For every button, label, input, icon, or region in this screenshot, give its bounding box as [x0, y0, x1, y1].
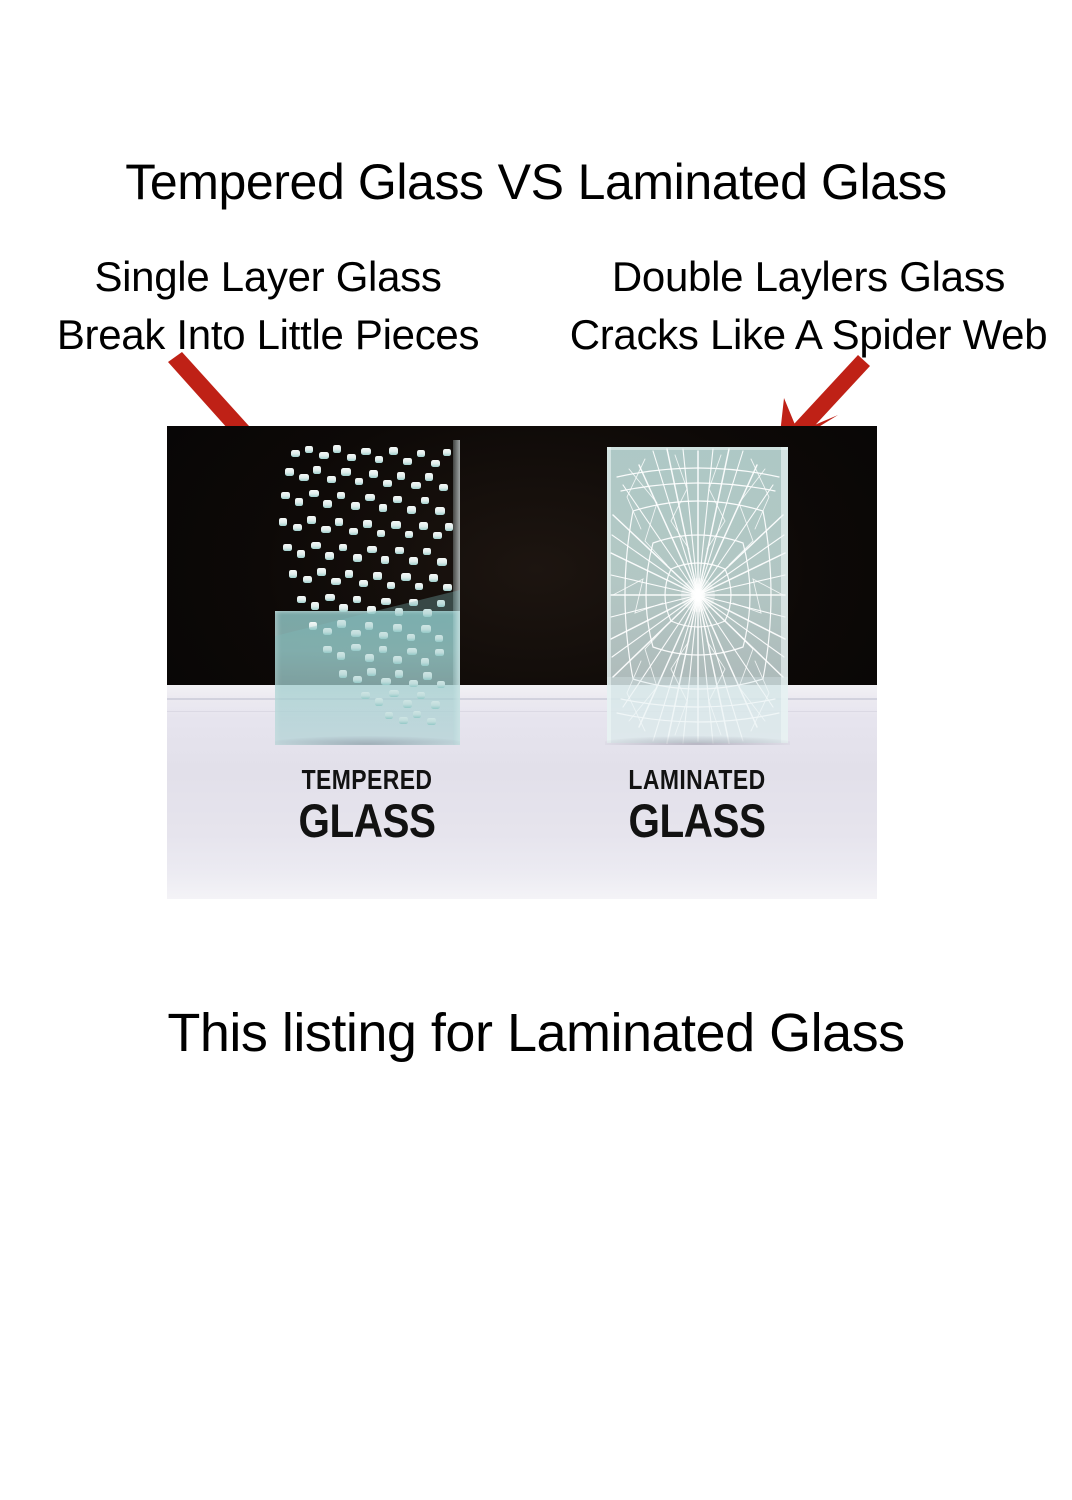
subtitle-column-tempered: Single Layer Glass Break Into Little Pie… — [8, 248, 528, 364]
photo-caption-laminated-top: LAMINATED — [582, 766, 812, 794]
laminated-pane-shadow — [605, 736, 790, 745]
photo-caption-tempered: TEMPERED GLASS — [227, 766, 507, 844]
page-title: Tempered GlassVSLaminated Glass — [0, 152, 1072, 212]
subtitle-laminated-line2: Cracks Like A Spider Web — [545, 306, 1072, 364]
headline-left-term: Tempered Glass — [125, 154, 483, 210]
tempered-glass-pane — [275, 440, 460, 745]
listing-note: This listing for Laminated Glass — [0, 1000, 1072, 1066]
subtitle-tempered-line2: Break Into Little Pieces — [8, 306, 528, 364]
photo-caption-tempered-bottom: GLASS — [247, 797, 488, 844]
subtitle-laminated-line1: Double Laylers Glass — [545, 248, 1072, 306]
headline-vs: VS — [498, 154, 564, 210]
subtitle-tempered-line1: Single Layer Glass — [8, 248, 528, 306]
comparison-photo: TEMPERED GLASS LAMINATED GLASS — [167, 426, 877, 899]
subtitle-row: Single Layer Glass Break Into Little Pie… — [0, 248, 1072, 368]
photo-caption-laminated-bottom: GLASS — [577, 797, 818, 844]
photo-caption-laminated: LAMINATED GLASS — [557, 766, 837, 844]
photo-caption-tempered-top: TEMPERED — [252, 766, 482, 794]
tempered-pane-shadow — [275, 736, 460, 745]
laminated-glass-pane — [605, 445, 790, 745]
subtitle-column-laminated: Double Laylers Glass Cracks Like A Spide… — [545, 248, 1072, 364]
laminated-crack-web — [605, 445, 790, 745]
headline-right-term: Laminated Glass — [578, 154, 947, 210]
page-root: { "colors": { "background": "#ffffff", "… — [0, 0, 1072, 1500]
tempered-shard-field — [275, 440, 460, 745]
